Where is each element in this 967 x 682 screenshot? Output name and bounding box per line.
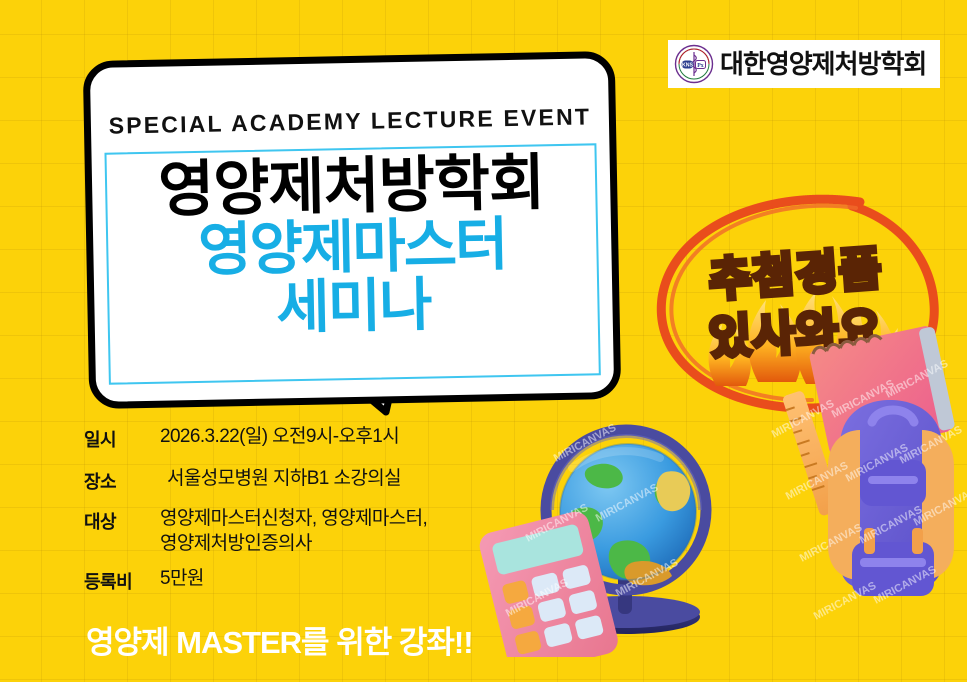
detail-label-place: 장소 bbox=[84, 466, 160, 494]
globe-and-calculator-illustration: MIRICANVAS MIRICANVAS MIRICANVAS MIRICAN… bbox=[468, 412, 738, 657]
svg-text:MIRICANVAS: MIRICANVAS bbox=[468, 412, 535, 415]
poster-slogan: 영양제 MASTER를 위한 강좌!! bbox=[86, 617, 473, 662]
title-outline-box: 영양제처방학회 영양제마스터 세미나 bbox=[104, 143, 600, 384]
poster-title-sub-line2: 세미나 bbox=[199, 274, 508, 339]
main-speech-bubble: SPECIAL ACADEMY LECTURE EVENT 영양제처방학회 영양… bbox=[83, 51, 622, 409]
detail-row-place: 장소 서울성모병원 지하B1 소강의실 bbox=[84, 466, 484, 494]
poster-title-sub: 영양제마스터 세미나 bbox=[198, 215, 508, 339]
detail-value-fee: 5만원 bbox=[160, 566, 204, 594]
detail-row-target: 대상 영양제마스터신청자, 영양제마스터, 영양제처방인증의사 bbox=[84, 506, 484, 556]
detail-row-date: 일시 2026.3.22(일) 오전9시-오후1시 bbox=[84, 424, 484, 452]
svg-text:Px: Px bbox=[697, 63, 704, 69]
event-details-list: 일시 2026.3.22(일) 오전9시-오후1시 장소 서울성모병원 지하B1… bbox=[84, 424, 484, 604]
prize-line-1: 추첨경품 bbox=[708, 244, 884, 305]
detail-label-fee: 등록비 bbox=[84, 566, 160, 594]
detail-value-date: 2026.3.22(일) 오전9시-오후1시 bbox=[160, 424, 399, 452]
detail-row-fee: 등록비 5만원 bbox=[84, 566, 484, 594]
kns-px-caduceus-emblem-icon: KNS Px bbox=[674, 44, 714, 84]
svg-text:KNS: KNS bbox=[682, 63, 693, 69]
society-logo-bar: KNS Px 대한영양제처방학회 bbox=[668, 40, 940, 88]
detail-value-place: 서울성모병원 지하B1 소강의실 bbox=[160, 466, 401, 494]
detail-label-date: 일시 bbox=[84, 424, 160, 452]
detail-label-target: 대상 bbox=[84, 506, 160, 556]
society-name-label: 대한영양제처방학회 bbox=[720, 51, 926, 77]
backpack-notebook-ruler-illustration: MIRICANVAS MIRICANVAS MIRICANVAS MIRICAN… bbox=[768, 318, 967, 638]
svg-text:MIRICANVAS: MIRICANVAS bbox=[812, 580, 878, 623]
event-poster: KNS Px 대한영양제처방학회 SPECIAL ACADEMY LECTURE… bbox=[0, 0, 967, 682]
detail-value-target: 영양제마스터신청자, 영양제마스터, 영양제처방인증의사 bbox=[160, 506, 427, 556]
poster-title-sub-line1: 영양제마스터 bbox=[198, 215, 507, 280]
